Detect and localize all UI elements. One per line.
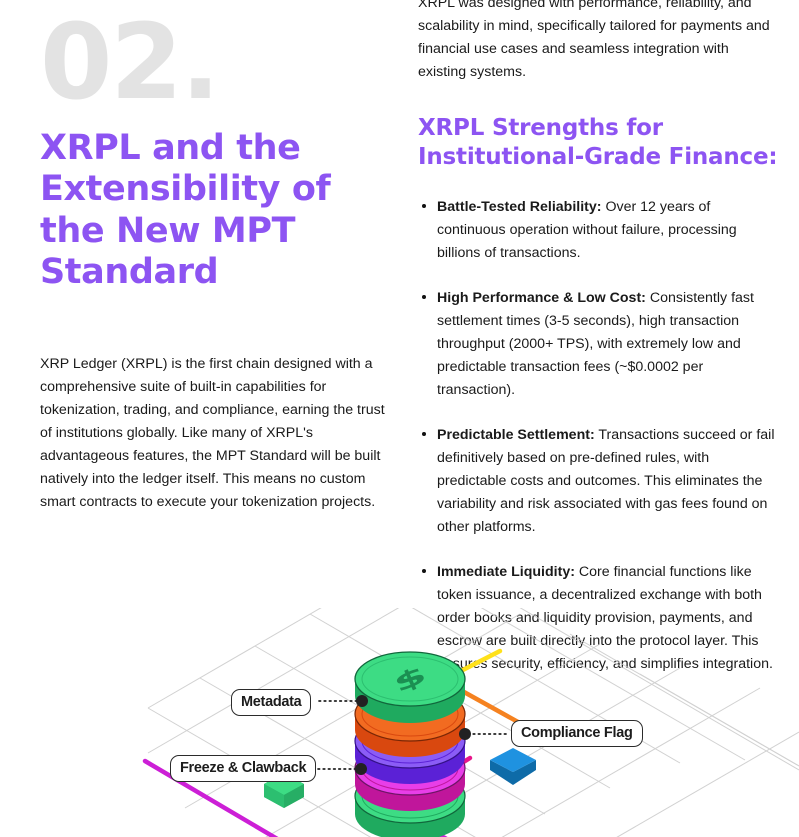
callout-freeze-clawback[interactable]: Freeze & Clawback — [170, 755, 316, 782]
left-column: 02. XRPL and the Extensibility of the Ne… — [40, 0, 390, 514]
strengths-heading: XRPL Strengths for Institutional-Grade F… — [418, 114, 778, 172]
strengths-bullet-list: Battle-Tested Reliability: Over 12 years… — [418, 196, 778, 676]
illustration-svg: $ — [0, 608, 799, 837]
page-title: XRPL and the Extensibility of the New MP… — [40, 128, 390, 293]
coin-stack: $ — [355, 652, 465, 837]
leader-node-compliance — [459, 728, 471, 740]
right-column: XRPL was designed with performance, reli… — [418, 0, 778, 676]
callout-metadata[interactable]: Metadata — [231, 689, 311, 716]
strength-bullet-term: Predictable Settlement: — [437, 427, 595, 443]
right-intro-paragraph: XRPL was designed with performance, reli… — [418, 0, 778, 84]
strength-bullet-item: Predictable Settlement: Transactions suc… — [418, 424, 778, 539]
strength-bullet-term: Immediate Liquidity: — [437, 564, 575, 580]
leader-node-metadata — [356, 695, 368, 707]
coin-dollar-top: $ — [355, 652, 465, 723]
blue-diamond-shape — [490, 748, 536, 785]
isometric-grid — [148, 608, 799, 837]
strength-bullet-item: Battle-Tested Reliability: Over 12 years… — [418, 196, 778, 265]
leader-node-freeze — [355, 763, 367, 775]
strength-bullet-term: Battle-Tested Reliability: — [437, 199, 602, 215]
section-number: 02. — [40, 0, 390, 114]
strength-bullet-term: High Performance & Low Cost: — [437, 290, 646, 306]
isometric-illustration: $ — [0, 608, 799, 837]
strength-bullet-item: High Performance & Low Cost: Consistentl… — [418, 287, 778, 402]
callout-compliance-flag[interactable]: Compliance Flag — [511, 720, 643, 747]
page-root: 02. XRPL and the Extensibility of the Ne… — [0, 0, 799, 837]
left-intro-paragraph: XRP Ledger (XRPL) is the first chain des… — [40, 353, 390, 514]
